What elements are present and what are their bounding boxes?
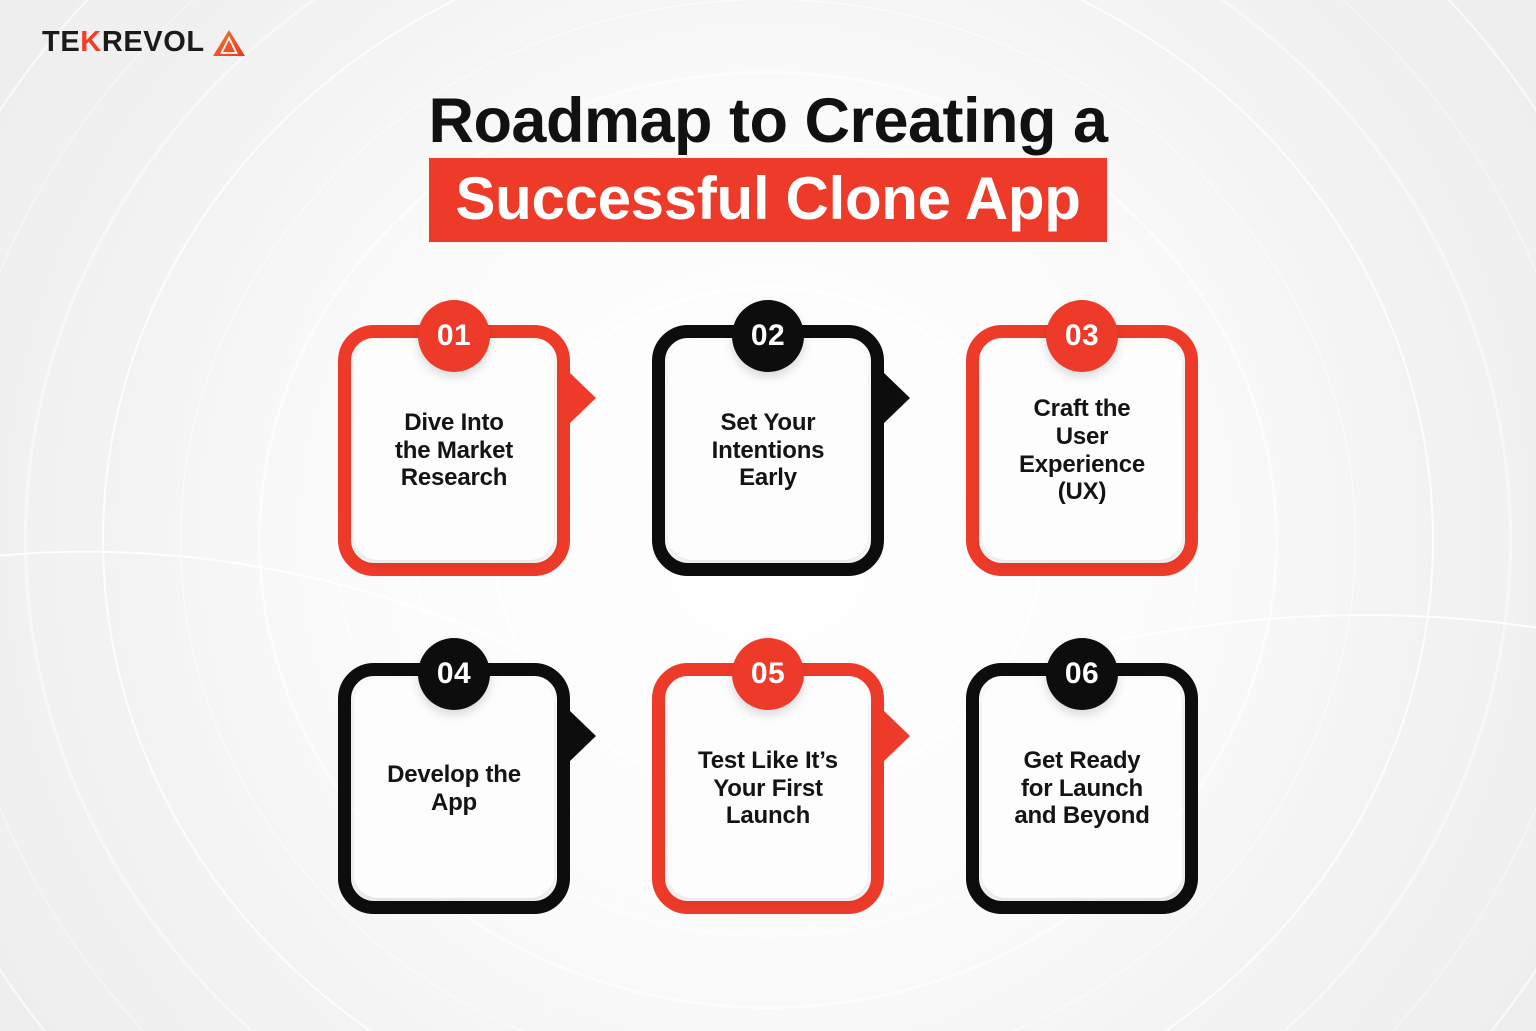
wordmark-part-k: K [80,28,102,57]
title-band-wrapper: Successful Clone App [0,158,1536,242]
step-number-badge: 01 [418,300,490,372]
brand-wordmark: TEKREVOL [42,28,205,57]
wordmark-part-revol: REVOL [102,28,205,57]
step-card-02[interactable]: Set Your Intentions Early 02 [652,300,884,576]
step-panel: Set Your Intentions Early [668,341,868,560]
wordmark-part-te: TE [42,28,80,57]
roadmap-steps: Dive Into the Market Research 01 Set You… [0,300,1536,914]
step-number-badge: 02 [732,300,804,372]
step-panel: Dive Into the Market Research [354,341,554,560]
arrow-right-icon [883,710,910,762]
step-panel: Test Like It’s Your First Launch [668,679,868,898]
step-card-01[interactable]: Dive Into the Market Research 01 [338,300,570,576]
step-card-06[interactable]: Get Ready for Launch and Beyond 06 [966,638,1198,914]
step-card-04[interactable]: Develop the App 04 [338,638,570,914]
step-label: Dive Into the Market Research [395,409,513,492]
title-line-2-highlight: Successful Clone App [429,158,1106,242]
triangle-logo-icon [212,29,246,57]
step-label: Set Your Intentions Early [712,409,825,492]
step-number-badge: 05 [732,638,804,710]
arrow-right-icon [569,710,596,762]
step-number-badge: 06 [1046,638,1118,710]
step-label: Get Ready for Launch and Beyond [1014,747,1149,830]
page-title: Roadmap to Creating a Successful Clone A… [0,88,1536,242]
step-row-top: Dive Into the Market Research 01 Set You… [0,300,1536,576]
title-line-1: Roadmap to Creating a [0,88,1536,154]
step-panel: Get Ready for Launch and Beyond [982,679,1182,898]
brand-logo: TEKREVOL [42,28,246,57]
step-panel: Craft the User Experience (UX) [982,341,1182,560]
step-number-badge: 04 [418,638,490,710]
step-panel: Develop the App [354,679,554,898]
arrow-right-icon [569,372,596,424]
step-label: Test Like It’s Your First Launch [698,747,838,830]
step-label: Develop the App [387,761,521,817]
step-number-badge: 03 [1046,300,1118,372]
step-card-05[interactable]: Test Like It’s Your First Launch 05 [652,638,884,914]
step-card-03[interactable]: Craft the User Experience (UX) 03 [966,300,1198,576]
step-row-bottom: Develop the App 04 Test Like It’s Your F… [0,638,1536,914]
arrow-right-icon [883,372,910,424]
step-label: Craft the User Experience (UX) [1019,395,1145,506]
